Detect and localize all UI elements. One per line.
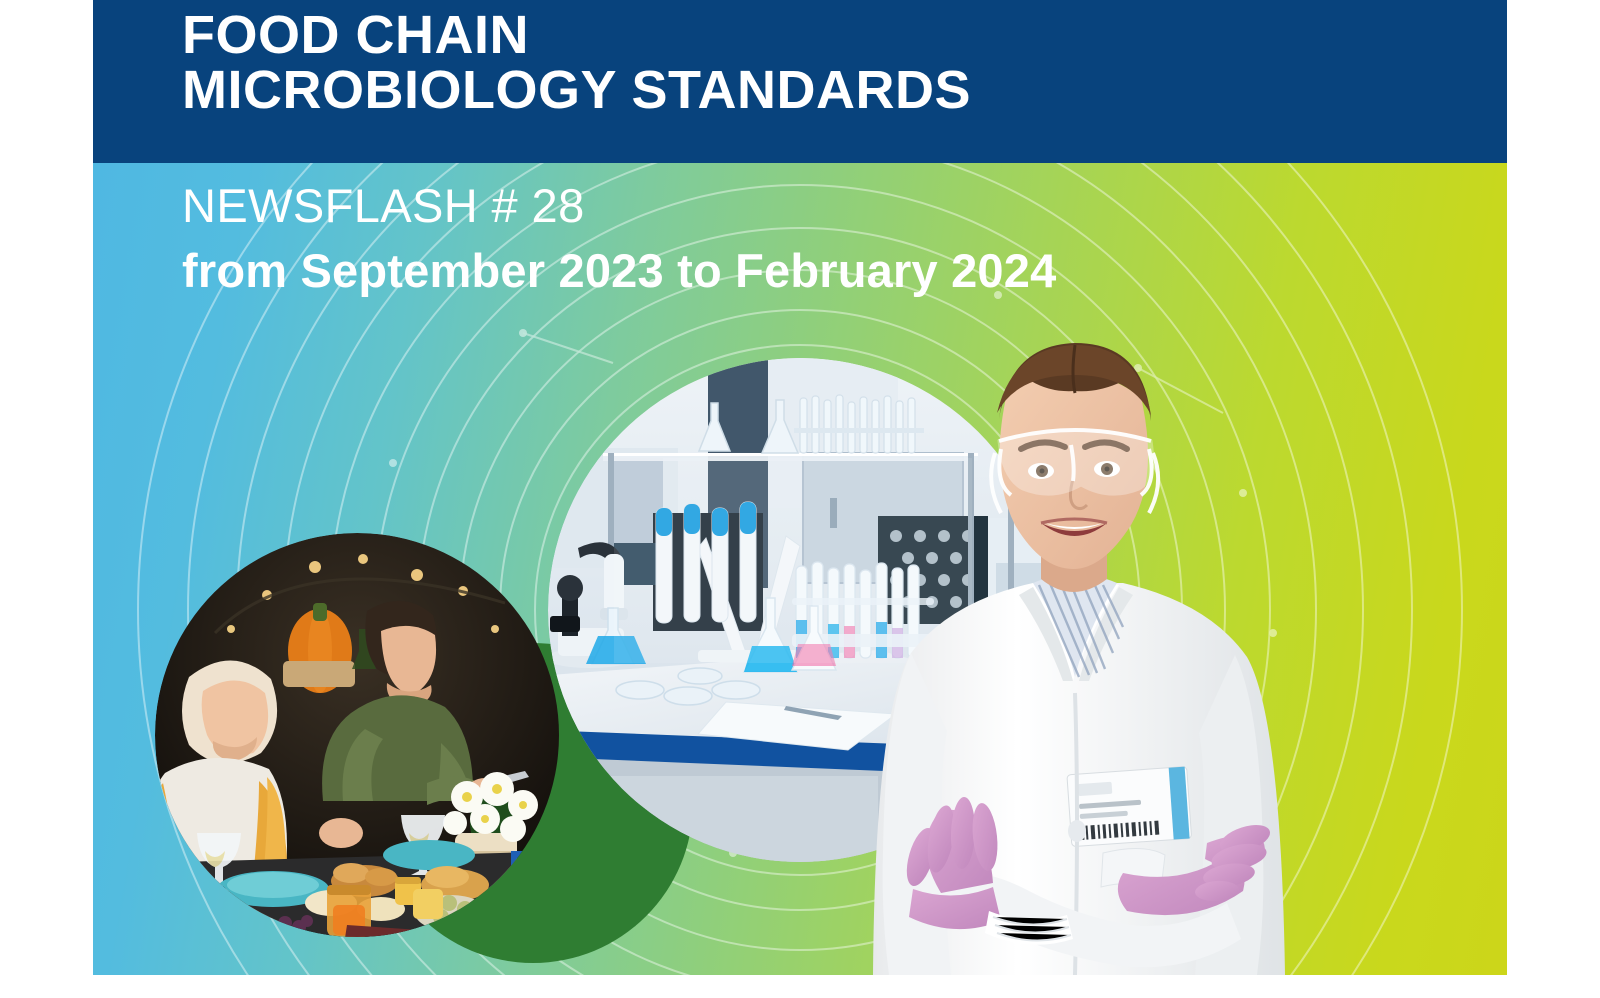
newsflash-period: from September 2023 to February 2024	[182, 242, 1056, 301]
newsflash-poster: NEWSFLASH # 28 from September 2023 to Fe…	[0, 0, 1600, 998]
scientist-photo	[793, 333, 1353, 975]
poster-card: NEWSFLASH # 28 from September 2023 to Fe…	[93, 0, 1507, 975]
food-dining-photo	[155, 533, 560, 938]
page-title: FOOD CHAIN MICROBIOLOGY STANDARDS	[182, 8, 971, 118]
food-dining-photo-art	[155, 533, 560, 938]
title-line-1: FOOD CHAIN	[182, 8, 971, 63]
scientist-photo-art	[793, 333, 1353, 975]
gradient-background: NEWSFLASH # 28 from September 2023 to Fe…	[93, 163, 1507, 975]
title-line-2: MICROBIOLOGY STANDARDS	[182, 63, 971, 118]
newsflash-number: NEWSFLASH # 28	[182, 177, 1056, 236]
subtitle-block: NEWSFLASH # 28 from September 2023 to Fe…	[182, 177, 1056, 301]
